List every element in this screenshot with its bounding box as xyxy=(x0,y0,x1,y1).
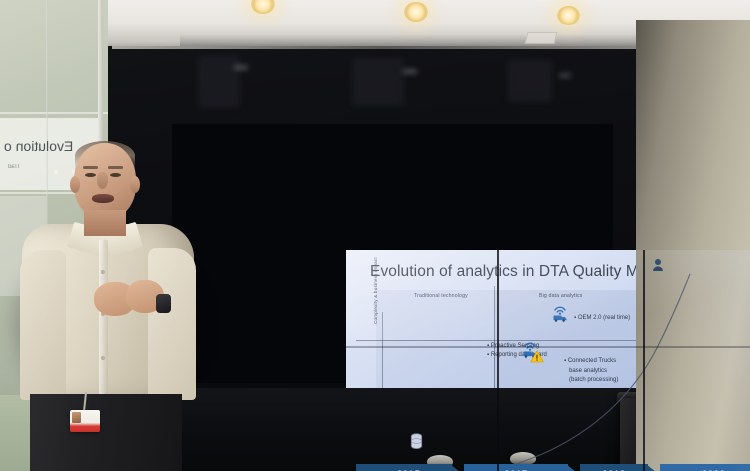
database-icon xyxy=(410,433,423,450)
ceiling-vent xyxy=(525,32,558,44)
wall-reflection-3 xyxy=(508,60,552,102)
presenter-brow-right xyxy=(108,166,123,169)
wall-reflection-2 xyxy=(352,58,404,106)
wall-highlight-strip-1 xyxy=(234,66,248,69)
videowall-bezel-horizontal xyxy=(346,346,750,348)
videowall-bezel-left xyxy=(497,250,499,471)
presentation-slide: Evolution of analytics in DTA Quality Ma… xyxy=(346,250,750,471)
presenter-arm-left xyxy=(20,250,66,400)
wall-highlight-strip-2 xyxy=(403,70,417,73)
wall-highlight-strip-3 xyxy=(559,74,571,77)
mirrored-slide-title-reflection: Evolution o xyxy=(4,138,73,154)
presenter-eye-left xyxy=(85,173,96,177)
timeline-step-2015[interactable]: ~ 2015 xyxy=(356,464,452,471)
timeline-step-2017[interactable]: 2017 xyxy=(464,464,568,471)
wall-rail xyxy=(112,46,650,49)
shirt-button-1 xyxy=(101,270,105,274)
video-wall[interactable]: Evolution of analytics in DTA Quality Ma… xyxy=(172,124,613,383)
presentation-room-photo: Evolution o Trad Evolution of analytics … xyxy=(0,0,750,471)
presenter-shirt-placket xyxy=(99,240,108,400)
warning-triangle-icon xyxy=(530,350,544,363)
wall-reflection-1 xyxy=(198,56,240,108)
timeline-arrow-2 xyxy=(566,464,579,471)
badge-photo xyxy=(72,412,81,423)
growth-curve xyxy=(346,250,750,471)
person-icon xyxy=(652,258,664,272)
presenter-eye-right xyxy=(110,173,121,177)
presenter-ear-right xyxy=(130,176,140,193)
mirrored-subtitle-reflection: Trad xyxy=(8,164,20,170)
truck-wifi-icon-oem xyxy=(552,304,568,322)
timeline-step-2018[interactable]: 2018 xyxy=(580,464,648,471)
shirt-button-3 xyxy=(101,356,105,360)
presenter-wristwatch xyxy=(156,294,171,313)
videowall-bezel-right xyxy=(643,250,645,471)
timeline-arrow-3 xyxy=(646,464,659,471)
presenter-neck xyxy=(84,210,126,236)
ceiling-downlight-3 xyxy=(557,6,580,25)
glass-light-reflection-1 xyxy=(54,170,58,174)
timeline-step-2020[interactable]: ~ 2020 xyxy=(660,464,750,471)
ceiling-downlight-2 xyxy=(404,2,428,22)
presenter-trousers xyxy=(30,394,182,471)
presenter-ear-left xyxy=(70,176,80,193)
presenter-brow-left xyxy=(83,166,98,169)
presenter-nose xyxy=(97,172,108,189)
presenter-mouth xyxy=(92,194,114,203)
glass-mullion-horizontal xyxy=(0,112,108,114)
presenter-arm-right xyxy=(148,248,196,400)
timeline-arrow-1 xyxy=(450,464,463,471)
